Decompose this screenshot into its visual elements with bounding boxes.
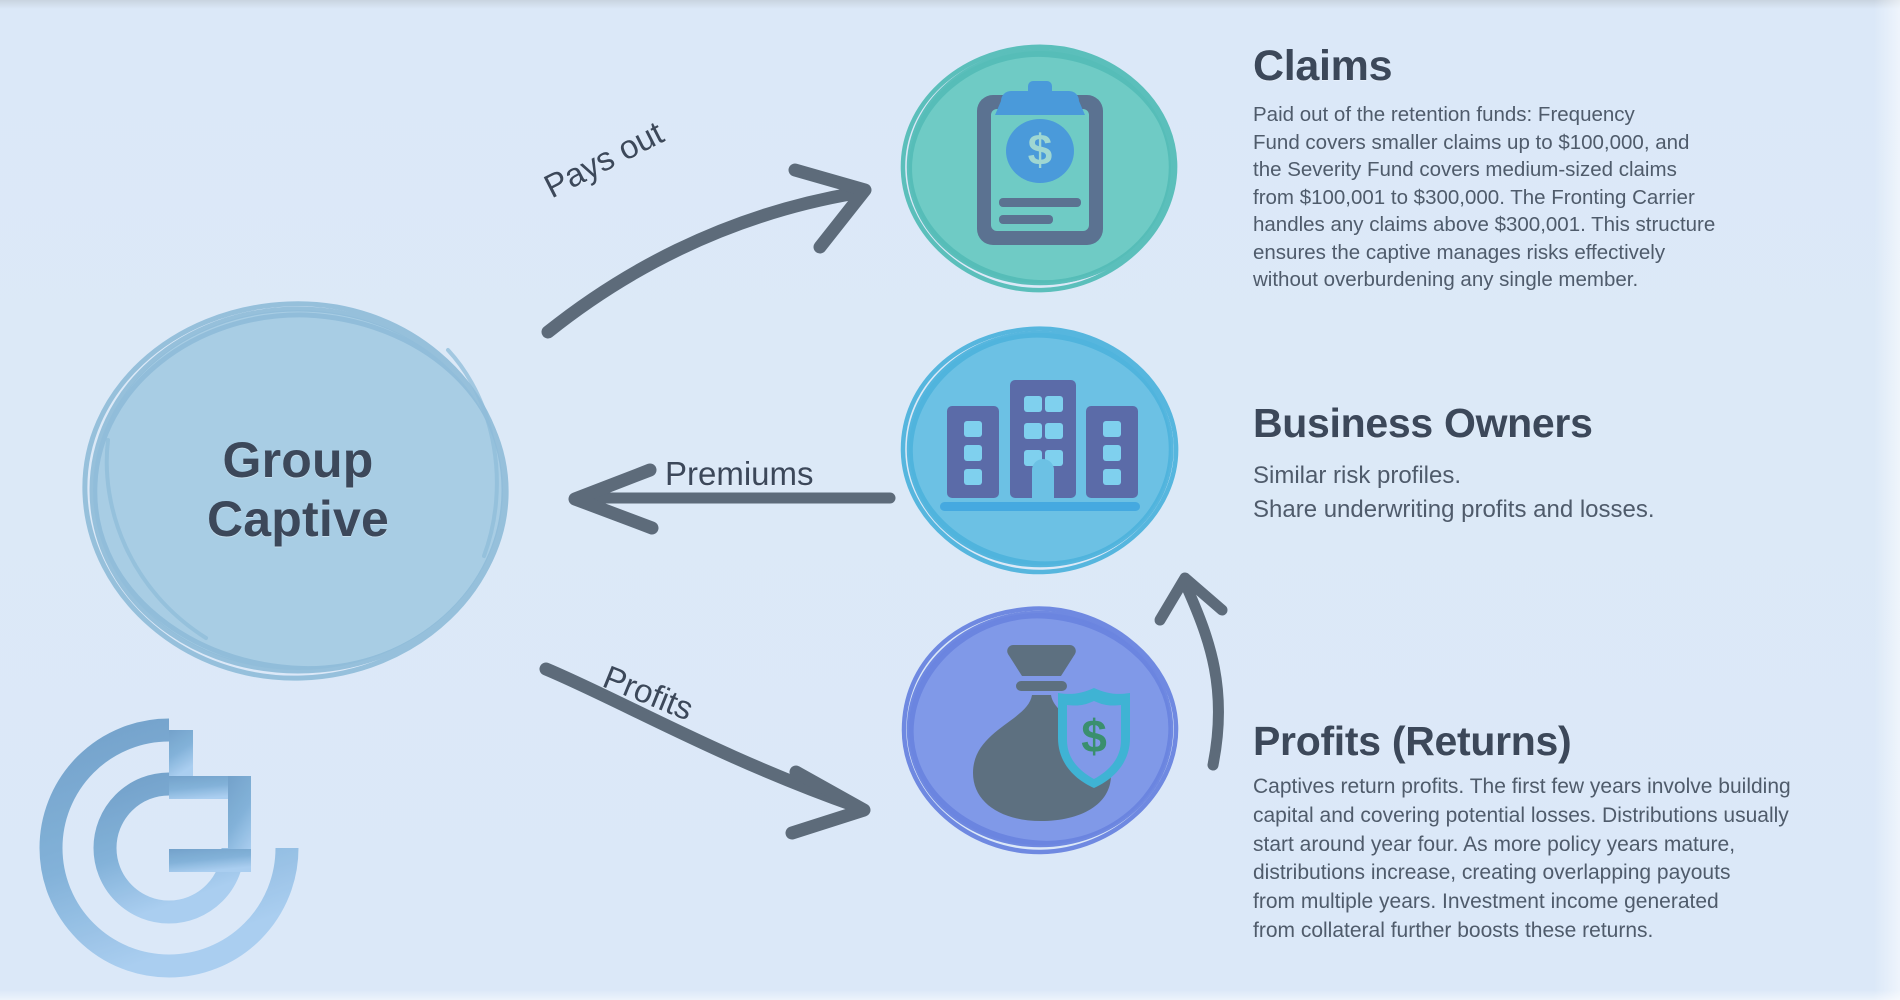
connector-profits xyxy=(546,669,864,833)
profits-node[interactable]: $ xyxy=(880,600,1200,858)
company-logo-watermark xyxy=(36,714,300,984)
svg-text:$: $ xyxy=(1081,710,1107,762)
group-captive-label-line2: Captive xyxy=(207,490,389,549)
group-captive-label-line1: Group xyxy=(223,431,374,490)
group-captive-label: Group Captive xyxy=(48,290,548,690)
business-owners-title: Business Owners xyxy=(1253,400,1863,447)
group-captive-node[interactable]: Group Captive xyxy=(48,290,548,690)
business-owners-textblock: Business Owners Similar risk profiles. S… xyxy=(1253,400,1863,527)
claims-node[interactable]: $ xyxy=(880,38,1200,296)
claims-textblock: Claims Paid out of the retention funds: … xyxy=(1253,42,1853,294)
claims-body: Paid out of the retention funds: Frequen… xyxy=(1253,101,1853,294)
diagram-canvas: Group Captive xyxy=(0,0,1900,1000)
business-owners-body: Similar risk profiles. Share underwritin… xyxy=(1253,459,1863,527)
clipboard-dollar-icon: $ xyxy=(977,81,1103,245)
right-edge-highlight xyxy=(1874,0,1900,1000)
profits-body: Captives return profits. The first few y… xyxy=(1253,773,1873,946)
profits-textblock: Profits (Returns) Captives return profit… xyxy=(1253,718,1873,946)
connector-label-pays-out: Pays out xyxy=(538,114,670,206)
claims-title: Claims xyxy=(1253,42,1853,91)
business-owners-node[interactable] xyxy=(880,320,1200,578)
svg-text:$: $ xyxy=(1028,126,1052,175)
connector-pays-out xyxy=(548,170,865,332)
profits-title: Profits (Returns) xyxy=(1253,718,1873,765)
connector-label-premiums: Premiums xyxy=(665,455,814,493)
bottom-edge-highlight xyxy=(0,990,1900,1000)
connector-label-profits: Profits xyxy=(598,658,699,728)
